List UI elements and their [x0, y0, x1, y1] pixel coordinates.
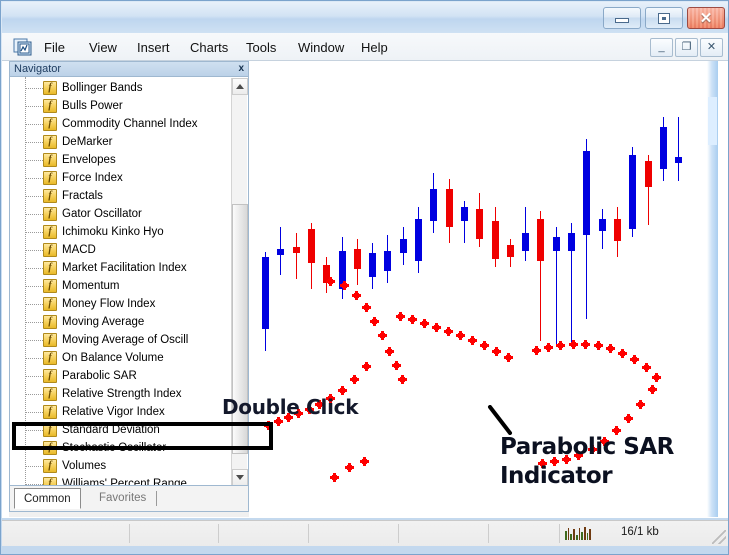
sar-dot [571, 342, 576, 347]
candle-body [583, 151, 590, 235]
fx-function-icon: f [43, 315, 57, 329]
navigator-item[interactable]: fMomentum [10, 277, 231, 295]
fx-function-icon: f [43, 459, 57, 473]
candle-body [645, 161, 652, 187]
fx-function-icon: f [43, 207, 57, 221]
navigator-item-label: Parabolic SAR [62, 367, 137, 385]
fx-function-icon: f [43, 171, 57, 185]
sar-dot [470, 338, 475, 343]
navigator-item-label: Volumes [62, 457, 106, 475]
signal-bar [587, 533, 589, 540]
navigator-item-label: MACD [62, 241, 96, 259]
tree-branch-line [26, 466, 43, 467]
sar-dot [347, 465, 352, 470]
navigator-item-label: On Balance Volume [62, 349, 164, 367]
tree-branch-line [26, 322, 43, 323]
fx-function-icon: f [43, 369, 57, 383]
tree-branch-line [26, 412, 43, 413]
sar-dot [596, 343, 601, 348]
sar-dot [340, 388, 345, 393]
candle-body [308, 229, 315, 263]
candle-body [537, 219, 544, 261]
fx-function-icon: f [43, 225, 57, 239]
candle-body [599, 219, 606, 231]
menu-window[interactable]: Window [294, 38, 348, 57]
menu-insert[interactable]: Insert [133, 38, 174, 57]
tree-branch-line [26, 268, 43, 269]
sar-dot [583, 342, 588, 347]
sar-dot [434, 325, 439, 330]
tree-branch-line [26, 178, 43, 179]
tree-branch-line [26, 304, 43, 305]
window-minimize-button[interactable] [603, 7, 641, 29]
sar-dot [352, 377, 357, 382]
fx-function-icon: f [43, 387, 57, 401]
navigator-close-icon[interactable]: x [238, 62, 244, 76]
candle-body [293, 247, 300, 253]
menu-help[interactable]: Help [357, 38, 392, 57]
navigator-item[interactable]: fBulls Power [10, 97, 231, 115]
tree-branch-line [26, 214, 43, 215]
candle-body [507, 245, 514, 257]
signal-bar [581, 532, 583, 540]
annotation-sar-line1: Parabolic SAR [500, 433, 674, 462]
sar-dot [650, 387, 655, 392]
sar-dot [446, 329, 451, 334]
fx-function-icon: f [43, 297, 57, 311]
sar-dot [626, 416, 631, 421]
sar-dot [632, 357, 637, 362]
sar-dot [644, 365, 649, 370]
status-divider [488, 524, 489, 543]
candle-body [277, 249, 284, 255]
fx-function-icon: f [43, 117, 57, 131]
navigator-item-label: Bulls Power [62, 97, 123, 115]
candle-body [614, 219, 621, 241]
menu-charts[interactable]: Charts [186, 38, 232, 57]
tree-branch-line [26, 142, 43, 143]
tree-branch-line [26, 358, 43, 359]
fx-function-icon: f [43, 243, 57, 257]
sar-dot [364, 364, 369, 369]
navigator-item[interactable]: fOn Balance Volume [10, 349, 231, 367]
candle-body [675, 157, 682, 163]
sar-dot [372, 319, 377, 324]
highlight-box-parabolic-sar [12, 422, 273, 450]
navigator-item[interactable]: fGator Oscillator [10, 205, 231, 223]
sar-dot [494, 349, 499, 354]
network-traffic-label: 16/1 kb [621, 526, 659, 538]
close-icon: ✕ [700, 11, 713, 26]
candle-body [476, 209, 483, 239]
tree-branch-line [26, 106, 43, 107]
menu-view[interactable]: View [85, 38, 121, 57]
navigator-tabs: Common Favorites [9, 486, 249, 512]
navigator-item-label: DeMarker [62, 133, 112, 151]
fx-function-icon: f [43, 189, 57, 203]
status-bar: 16/1 kb [2, 520, 729, 546]
sar-dot [546, 345, 551, 350]
metatrader-icon [13, 37, 33, 57]
sar-dot [394, 363, 399, 368]
navigator-item-label: Market Facilitation Index [62, 259, 187, 277]
navigator-item-label: Gator Oscillator [62, 205, 142, 223]
tree-branch-line [26, 394, 43, 395]
signal-bar [568, 528, 570, 540]
sar-dot [387, 349, 392, 354]
metatrader-window: ✕ File View Insert Charts Tools Window H… [0, 0, 729, 555]
candle-body [492, 221, 499, 259]
candle-body [553, 237, 560, 251]
sar-dot [400, 377, 405, 382]
annotation-pointer-line [487, 405, 513, 435]
navigator-item-label: Ichimoku Kinko Hyo [62, 223, 164, 241]
tab-favorites[interactable]: Favorites [90, 488, 155, 509]
navigator-item-label: Commodity Channel Index [62, 115, 198, 133]
scroll-down-arrow[interactable] [232, 469, 248, 486]
menu-file[interactable]: File [40, 38, 69, 57]
status-divider [559, 524, 560, 543]
candle-body [430, 189, 437, 221]
candle-wick [296, 233, 297, 279]
status-divider [308, 524, 309, 543]
candle-wick [678, 117, 679, 181]
candle-body [568, 233, 575, 251]
tree-branch-line [26, 286, 43, 287]
fx-function-icon: f [43, 279, 57, 293]
navigator-item[interactable]: fFractals [10, 187, 231, 205]
fx-function-icon: f [43, 153, 57, 167]
tree-branch-line [26, 376, 43, 377]
tree-branch-line [26, 340, 43, 341]
mdi-minimize-button[interactable]: _ [650, 38, 673, 57]
navigator-item-label: Force Index [62, 169, 123, 187]
tree-branch-line [26, 484, 43, 485]
navigator-item[interactable]: fRelative Vigor Index [10, 403, 231, 421]
navigator-title: Navigator [14, 62, 61, 76]
sar-dot [506, 355, 511, 360]
sar-dot [380, 333, 385, 338]
navigator-item[interactable]: fDeMarker [10, 133, 231, 151]
candle-body [522, 233, 529, 251]
sar-dot [482, 343, 487, 348]
navigator-item-label: Moving Average [62, 313, 144, 331]
sar-dot [410, 317, 415, 322]
sar-dot [398, 314, 403, 319]
navigator-item[interactable]: fIchimoku Kinko Hyo [10, 223, 231, 241]
resize-grip-icon[interactable] [712, 530, 726, 544]
navigator-item-label: Envelopes [62, 151, 116, 169]
sar-dot [276, 419, 281, 424]
navigator-titlebar: Navigator x [9, 61, 249, 76]
restore-icon [658, 13, 670, 24]
navigator-item[interactable]: fForce Index [10, 169, 231, 187]
tree-branch-line [26, 232, 43, 233]
fx-function-icon: f [43, 405, 57, 419]
navigator-item-label: Momentum [62, 277, 120, 295]
sar-dot [608, 346, 613, 351]
tree-branch-line [26, 196, 43, 197]
mdi-restore-button[interactable]: ❐ [675, 38, 698, 57]
fx-function-icon: f [43, 351, 57, 365]
navigator-item[interactable]: fEnvelopes [10, 151, 231, 169]
scroll-up-arrow[interactable] [232, 78, 248, 95]
navigator-item[interactable]: fCommodity Channel Index [10, 115, 231, 133]
window-maximize-button[interactable] [645, 7, 683, 29]
candle-body [369, 253, 376, 277]
tree-branch-line [26, 88, 43, 89]
sar-dot [422, 321, 427, 326]
signal-bar [579, 528, 581, 540]
navigator-item-label: Bollinger Bands [62, 79, 143, 97]
candle-body [660, 127, 667, 169]
annotation-double-click: Double Click [222, 395, 358, 419]
signal-bar [570, 534, 572, 540]
sar-dot [332, 475, 337, 480]
navigator-item-label: Relative Strength Index [62, 385, 182, 403]
fx-function-icon: f [43, 99, 57, 113]
candle-body [262, 257, 269, 329]
navigator-item-label: Williams' Percent Range [62, 475, 187, 486]
chart-vertical-scrollbar[interactable] [707, 61, 718, 517]
candle-body [354, 249, 361, 269]
signal-bars-icon [565, 527, 591, 540]
candle-body [415, 219, 422, 261]
navigator-item-label: Relative Vigor Index [62, 403, 165, 421]
fx-function-icon: f [43, 261, 57, 275]
sar-dot [354, 293, 359, 298]
sar-dot [342, 283, 347, 288]
tree-branch-line [26, 160, 43, 161]
sar-dot [362, 459, 367, 464]
navigator-item[interactable]: fMoving Average of Oscill [10, 331, 231, 349]
navigator-item-label: Fractals [62, 187, 103, 205]
navigator-item[interactable]: fWilliams' Percent Range [10, 475, 231, 486]
candle-body [446, 189, 453, 227]
status-divider [218, 524, 219, 543]
chart-scroll-thumb[interactable] [708, 97, 717, 145]
status-divider [398, 524, 399, 543]
sar-dot [558, 343, 563, 348]
menu-tools[interactable]: Tools [242, 38, 280, 57]
candle-body [400, 239, 407, 253]
status-divider [129, 524, 130, 543]
fx-function-icon: f [43, 135, 57, 149]
signal-bar [589, 529, 591, 540]
tab-separator [156, 491, 157, 506]
navigator-item[interactable]: fMoney Flow Index [10, 295, 231, 313]
signal-bar [576, 535, 578, 540]
sar-dot [638, 402, 643, 407]
minimize-icon [615, 18, 629, 23]
navigator-item[interactable]: fBollinger Bands [10, 79, 231, 97]
signal-bar [573, 529, 575, 540]
signal-bar [565, 531, 567, 540]
candle-body [384, 251, 391, 271]
tree-branch-line [26, 250, 43, 251]
fx-function-icon: f [43, 477, 57, 486]
sar-dot [458, 333, 463, 338]
window-titlebar: ✕ [2, 2, 729, 33]
navigator-item[interactable]: fVolumes [10, 457, 231, 475]
navigator-item[interactable]: fMoving Average [10, 313, 231, 331]
candle-body [461, 207, 468, 221]
sar-dot [620, 351, 625, 356]
menu-bar: File View Insert Charts Tools Window Hel… [2, 33, 729, 61]
annotation-parabolic-sar: Parabolic SAR Indicator [500, 433, 674, 491]
client-area: Navigator x fBollinger BandsfBulls Power… [2, 61, 729, 518]
signal-bar [584, 527, 586, 540]
candle-body [629, 155, 636, 229]
sar-dot [364, 305, 369, 310]
sar-dot [654, 375, 659, 380]
window-close-button[interactable]: ✕ [687, 7, 725, 29]
navigator-item-label: Money Flow Index [62, 295, 155, 313]
sar-dot [534, 348, 539, 353]
navigator-item[interactable]: fParabolic SAR [10, 367, 231, 385]
tab-common[interactable]: Common [14, 488, 81, 509]
navigator-item[interactable]: fRelative Strength Index [10, 385, 231, 403]
mdi-close-button[interactable]: ✕ [700, 38, 723, 57]
fx-function-icon: f [43, 333, 57, 347]
navigator-item-label: Moving Average of Oscill [62, 331, 188, 349]
navigator-item[interactable]: fMarket Facilitation Index [10, 259, 231, 277]
tree-branch-line [26, 124, 43, 125]
navigator-item[interactable]: fMACD [10, 241, 231, 259]
fx-function-icon: f [43, 81, 57, 95]
sar-dot [328, 279, 333, 284]
annotation-sar-line2: Indicator [500, 462, 674, 491]
